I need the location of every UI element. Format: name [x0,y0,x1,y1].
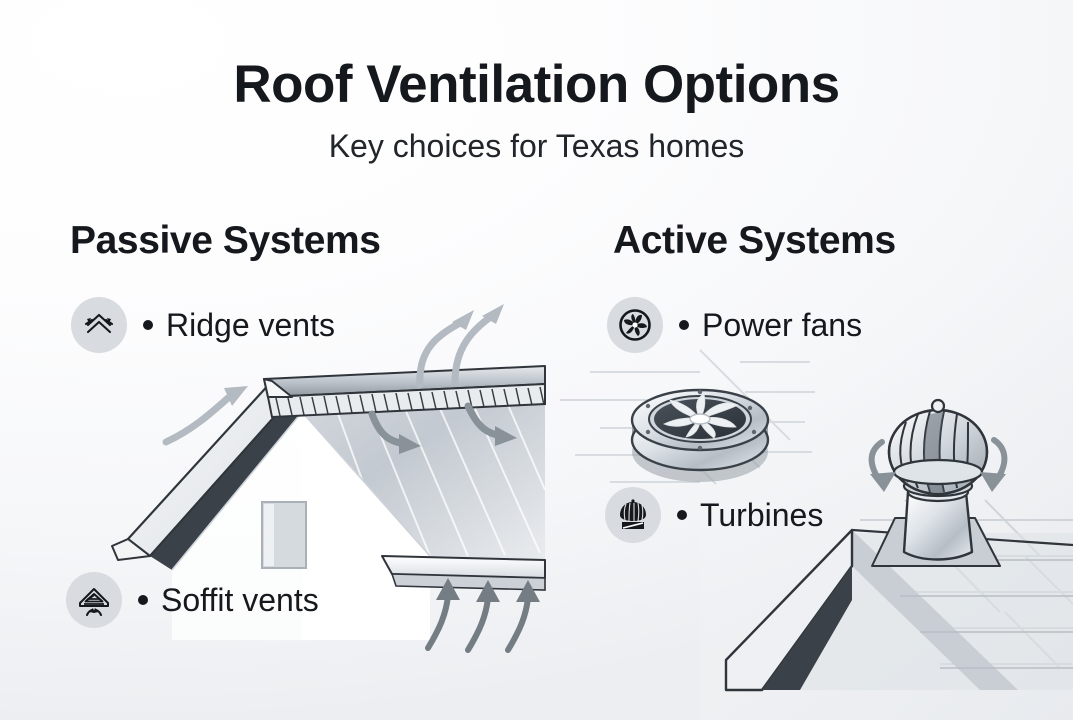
ridge-vent-strip [268,384,545,417]
list-item-soffit-vents[interactable]: Soffit vents [66,572,319,628]
column-heading-active: Active Systems [613,220,896,263]
list-item-label-wrapper: Soffit vents [138,584,319,616]
list-item-label-wrapper: Power fans [679,309,862,341]
bullet-dot-icon [143,320,153,330]
airflow-left-arrowhead [224,386,248,406]
list-item-label-wrapper: Ridge vents [143,309,335,341]
turbine-vanes [900,411,968,492]
infographic-canvas: Roof Ventilation Options Key choices for… [0,0,1073,720]
power-fan-illustration [632,390,768,482]
list-item-ridge-vents[interactable]: Ridge vents [71,297,335,353]
bullet-dot-icon [677,510,687,520]
list-item-label: Soffit vents [161,584,319,616]
fan-blades [664,394,738,438]
bullet-dot-icon [679,320,689,330]
shingle-lines-roof [860,500,1073,668]
ridge-vent-icon [81,307,117,343]
fan-hub [690,414,710,424]
airflow-left-arrow [166,398,228,442]
power-fan-icon [616,306,654,344]
list-item-label: Ridge vents [166,309,335,341]
list-item-label: Turbines [700,499,823,531]
gable-window [262,502,306,568]
page-title: Roof Ventilation Options [0,56,1073,114]
fan-bolts [646,390,756,450]
turbine-shading [924,412,944,492]
ridge-vent-icon-badge [71,297,127,353]
airflow-soffit-arrows [428,596,528,650]
list-item-label: Power fans [702,309,862,341]
turbine-vent-icon-badge [605,487,661,543]
airflow-exhaust-arrows [420,316,492,385]
bullet-dot-icon [138,595,148,605]
shingle-lines-fan [560,350,815,484]
turbine-rotation-arrows [872,440,1005,478]
airflow-attic-arrows [372,406,502,444]
list-item-label-wrapper: Turbines [677,499,823,531]
power-fan-icon-badge [607,297,663,353]
airflow-soffit-arrowheads [436,578,540,602]
list-item-turbines[interactable]: Turbines [605,487,823,543]
turbine-roof-illustration [726,400,1073,690]
list-item-power-fans[interactable]: Power fans [607,297,862,353]
soffit-vent-icon [75,581,113,619]
column-heading-passive: Passive Systems [70,220,381,263]
turbine-rotation-arrowheads [870,472,1006,492]
turbine-vent-icon [615,497,651,533]
airflow-exhaust-arrowheads [452,304,504,330]
soffit-vent-icon-badge [66,572,122,628]
airflow-attic-arrowheads [399,426,517,454]
page-subtitle: Key choices for Texas homes [0,127,1073,165]
